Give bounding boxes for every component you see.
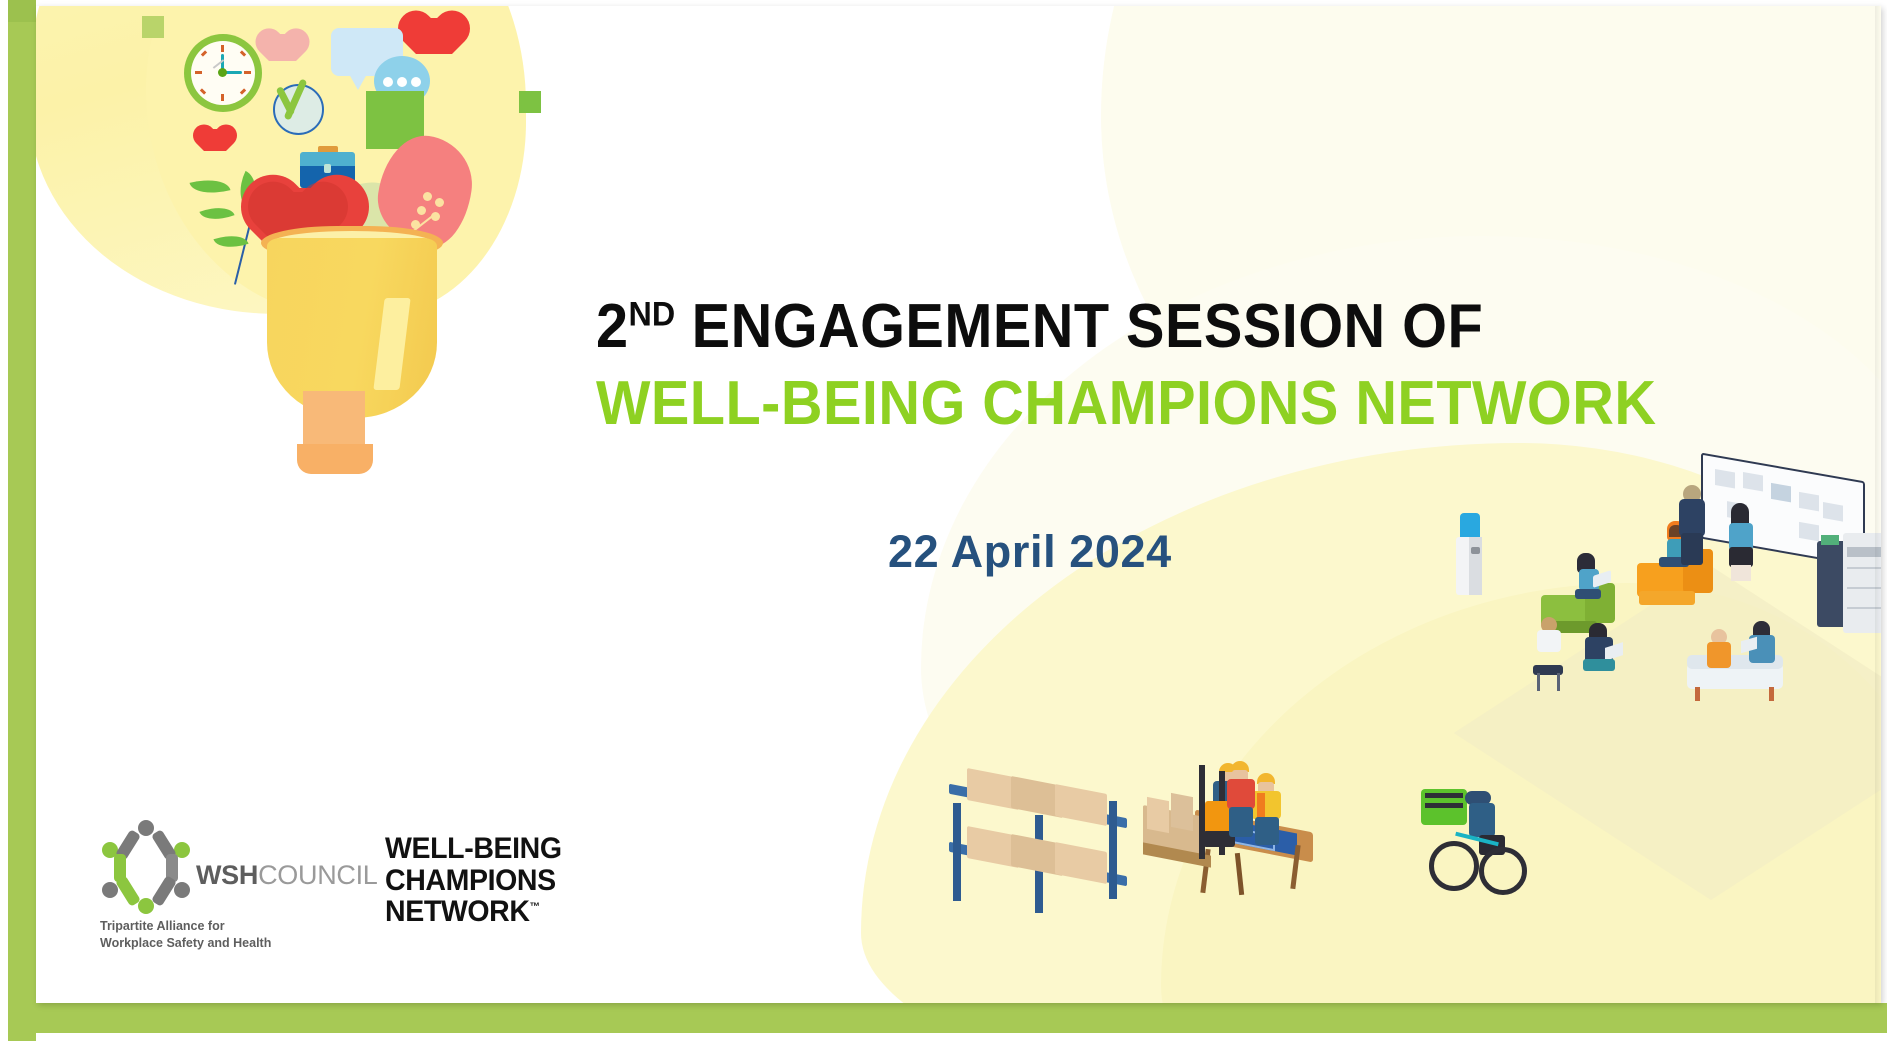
water-cooler-icon (1453, 513, 1485, 603)
wsh-council-logo: WSHCOUNCIL Tripartite Alliance for Workp… (88, 820, 333, 955)
slide-headline: 2ND ENGAGEMENT SESSION OF WELL-BEING CHA… (596, 294, 1736, 436)
wsh-hex-mark-icon (100, 820, 192, 912)
wsh-council-wordmark: WSHCOUNCIL (196, 860, 378, 891)
wsh-council-tagline: Tripartite Alliance for Workplace Safety… (100, 918, 271, 951)
green-frame-bottom (8, 1003, 1887, 1033)
wellbeing-champions-network-logo: WELL-BEING CHAMPIONS NETWORK™ (385, 833, 562, 927)
headline-line-1-rest: ENGAGEMENT SESSION OF (675, 292, 1483, 361)
heart-icon-pink (269, 34, 296, 61)
headline-line-2: WELL-BEING CHAMPIONS NETWORK (596, 371, 1656, 436)
presentation-slide: 2ND ENGAGEMENT SESSION OF WELL-BEING CHA… (0, 0, 1887, 1041)
person-sofa-orange-icon (1705, 629, 1735, 675)
slide-canvas: 2ND ENGAGEMENT SESSION OF WELL-BEING CHA… (36, 6, 1881, 1003)
printer-icon (1817, 533, 1881, 643)
clock-icon (184, 34, 262, 112)
person-laptop-green-chair-icon (1567, 553, 1613, 607)
wbcn-line-3: NETWORK™ (385, 896, 562, 927)
wsh-wordmark-bold: WSH (196, 860, 258, 890)
green-cross-icon-small (142, 16, 164, 38)
slide-edge-shadow (1875, 6, 1881, 1003)
green-frame-top-nub (8, 0, 36, 22)
green-cross-icon-right (519, 91, 541, 113)
trademark-symbol: ™ (530, 901, 540, 913)
check-mark-icon (279, 76, 323, 126)
green-frame-left (8, 0, 36, 1041)
attendee-person-icon (1721, 503, 1761, 585)
person-meeting-icon-1 (1533, 617, 1567, 663)
bouquet-illustration (231, 206, 481, 486)
slide-date: 22 April 2024 (888, 526, 1172, 578)
warehouse-rack-icon (949, 767, 1159, 917)
wsh-wordmark-light: COUNCIL (258, 860, 377, 890)
isometric-workplace-scene (1181, 523, 1881, 1003)
wbcn-line-1: WELL-BEING (385, 833, 562, 864)
speech-bubble-tail (349, 74, 367, 90)
forklift-worker-icon (1143, 765, 1263, 885)
logo-row: WSHCOUNCIL Tripartite Alliance for Workp… (88, 820, 571, 955)
headline-ordinal-suffix: ND (629, 295, 676, 333)
delivery-cyclist-icon (1421, 789, 1531, 885)
heart-icon-red-top (416, 18, 452, 54)
headline-ordinal-number: 2 (596, 292, 629, 361)
person-sofa-blue-icon (1747, 621, 1779, 673)
presenter-person-icon (1673, 485, 1713, 567)
bouquet-stem-base (297, 444, 373, 474)
heart-icon-red-small (204, 129, 226, 151)
headline-line-1: 2ND ENGAGEMENT SESSION OF (596, 294, 1656, 359)
wbcn-line-3-text: NETWORK (385, 895, 530, 928)
wbcn-line-2: CHAMPIONS (385, 865, 562, 896)
person-meeting-icon-2 (1579, 623, 1623, 685)
